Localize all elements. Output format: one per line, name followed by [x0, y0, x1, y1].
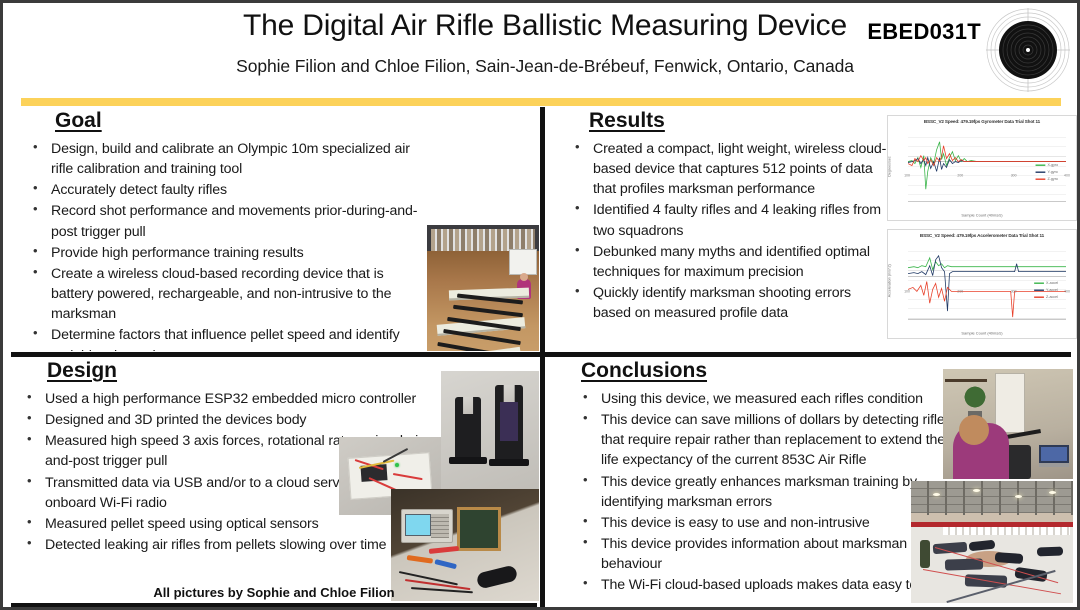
chart-title: BSSC_V2 Speed: 479.19fps Accelerometer D… — [855, 233, 1080, 238]
conclusions-bullet-list: Using this device, we measured each rifl… — [583, 389, 953, 596]
range-officer — [920, 540, 930, 568]
oscilloscope-knobs — [431, 514, 449, 538]
wall-shelf — [945, 379, 987, 382]
photo-credit-text: All pictures by Sophie and Chloe Filion — [11, 585, 537, 600]
horizontal-divider — [11, 352, 1071, 357]
chart-x-ticks: 100 200 300 400 — [880, 174, 1080, 178]
chart-x-axis-label: Sample Count (40ms/s) — [850, 212, 1080, 218]
housing-shell-open — [495, 385, 523, 461]
marksman-head — [959, 415, 989, 445]
list-item: This device can save millions of dollars… — [583, 410, 953, 470]
x-tick: 100 — [904, 174, 910, 178]
wooden-test-frame — [457, 507, 501, 551]
rifles-on-tables-photo — [427, 225, 539, 351]
legend-item: Z-accel — [1034, 295, 1058, 302]
ceiling-light — [1015, 495, 1022, 498]
list-item: Record shot performance and movements pr… — [33, 201, 421, 241]
list-item: This device is easy to use and non-intru… — [583, 513, 953, 533]
x-tick: 300 — [1011, 290, 1017, 294]
ceiling-light — [973, 489, 980, 492]
x-tick: 400 — [1064, 174, 1070, 178]
x-tick: 100 — [904, 290, 910, 294]
list-item: This device provides information about m… — [583, 534, 953, 574]
list-item: Provide high performance training result… — [33, 243, 421, 263]
science-fair-poster: The Digital Air Rifle Ballistic Measurin… — [0, 0, 1080, 610]
list-item: Debunked many myths and identified optim… — [575, 242, 887, 282]
list-item: Designed and 3D printed the devices body — [27, 410, 443, 430]
chart-plot-area: X-accel Y-accel Z-accel — [908, 242, 1066, 320]
shooting-target-icon — [985, 7, 1071, 93]
chart-title: BSSC_V2 Speed: 479.19fps Gyrometer Data … — [855, 119, 1080, 124]
legend-swatch-z — [1035, 178, 1045, 179]
list-item: Create a wireless cloud-based recording … — [33, 264, 421, 324]
ceiling-light — [933, 493, 940, 496]
legend-swatch-z — [1034, 296, 1044, 297]
ceiling-light — [1049, 491, 1056, 494]
x-tick: 400 — [1064, 290, 1070, 294]
list-item: Determine factors that influence pellet … — [33, 325, 421, 351]
indoor-shooting-range-photo — [911, 481, 1073, 603]
list-item: Accurately detect faulty rifles — [33, 180, 421, 200]
chart-x-axis-label: Sample Count (40ms/s) — [850, 330, 1080, 336]
legend-item: Z-gyro — [1035, 177, 1058, 184]
author-line: Sophie Filion and Chloe Filion, Sain-Jea… — [3, 56, 1077, 77]
list-item: Design, build and calibrate an Olympic 1… — [33, 139, 421, 179]
legend-swatch-x — [1035, 165, 1045, 166]
goal-bullet-list: Design, build and calibrate an Olympic 1… — [33, 139, 421, 351]
list-item: Detected leaking air rifles from pellets… — [27, 535, 443, 555]
list-item: The Wi-Fi cloud-based uploads makes data… — [583, 575, 953, 595]
project-code-badge: EBED031T — [867, 19, 981, 45]
list-item: Identified 4 faulty rifles and 4 leaking… — [575, 200, 887, 240]
status-led — [395, 463, 399, 467]
housing-shell-closed — [455, 397, 481, 459]
3d-printed-housing-photo — [441, 371, 539, 491]
gold-accent-divider — [21, 98, 1061, 106]
poster-header: The Digital Air Rifle Ballistic Measurin… — [3, 3, 1077, 95]
marksman-shooting-photo — [943, 369, 1073, 479]
list-item: Created a compact, light weight, wireles… — [575, 139, 887, 199]
list-item: Measured pellet speed using optical sens… — [27, 514, 443, 534]
wall-display-panels — [431, 229, 535, 251]
x-tick: 300 — [1011, 174, 1017, 178]
whiteboard — [509, 249, 537, 275]
oscilloscope — [401, 509, 453, 543]
list-item: This device greatly enhances marksman tr… — [583, 472, 953, 512]
x-tick: 200 — [957, 174, 963, 178]
vertical-divider — [540, 107, 545, 607]
prone-shooter — [995, 552, 1024, 564]
x-tick: 200 — [957, 290, 963, 294]
housing-base — [489, 459, 529, 466]
accelerometer-chart: BSSC_V2 Speed: 479.19fps Accelerometer D… — [887, 229, 1077, 339]
list-item: Used a high performance ESP32 embedded m… — [27, 389, 443, 409]
chart-x-ticks: 100 200 300 400 — [880, 290, 1080, 294]
bottom-rule — [11, 603, 537, 607]
oscilloscope-screen — [405, 514, 431, 536]
ceiling-trusses — [911, 481, 1073, 515]
prone-shooter — [1037, 547, 1063, 557]
section-heading-design: Design — [47, 359, 117, 383]
results-bullet-list: Created a compact, light weight, wireles… — [575, 139, 887, 323]
target-line — [943, 527, 1069, 535]
legend-swatch-y — [1035, 171, 1045, 172]
section-heading-goal: Goal — [55, 109, 102, 133]
housing-base — [449, 457, 487, 464]
list-item: Using this device, we measured each rifl… — [583, 389, 953, 409]
section-heading-conclusions: Conclusions — [581, 359, 707, 383]
section-goal: Goal Design, build and calibrate an Olym… — [11, 109, 539, 351]
list-item: Quickly identify marksman shooting error… — [575, 283, 887, 323]
gyrometer-chart: BSSC_V2 Speed: 479.19fps Gyrometer Data … — [887, 115, 1077, 221]
legend-swatch-x — [1034, 283, 1044, 284]
circuit-board — [500, 402, 518, 442]
doorway — [995, 373, 1025, 433]
laptop — [1039, 445, 1069, 467]
chart-plot-area: X-gyro Y-gyro Z-gyro — [908, 128, 1066, 202]
section-heading-results: Results — [589, 109, 665, 133]
